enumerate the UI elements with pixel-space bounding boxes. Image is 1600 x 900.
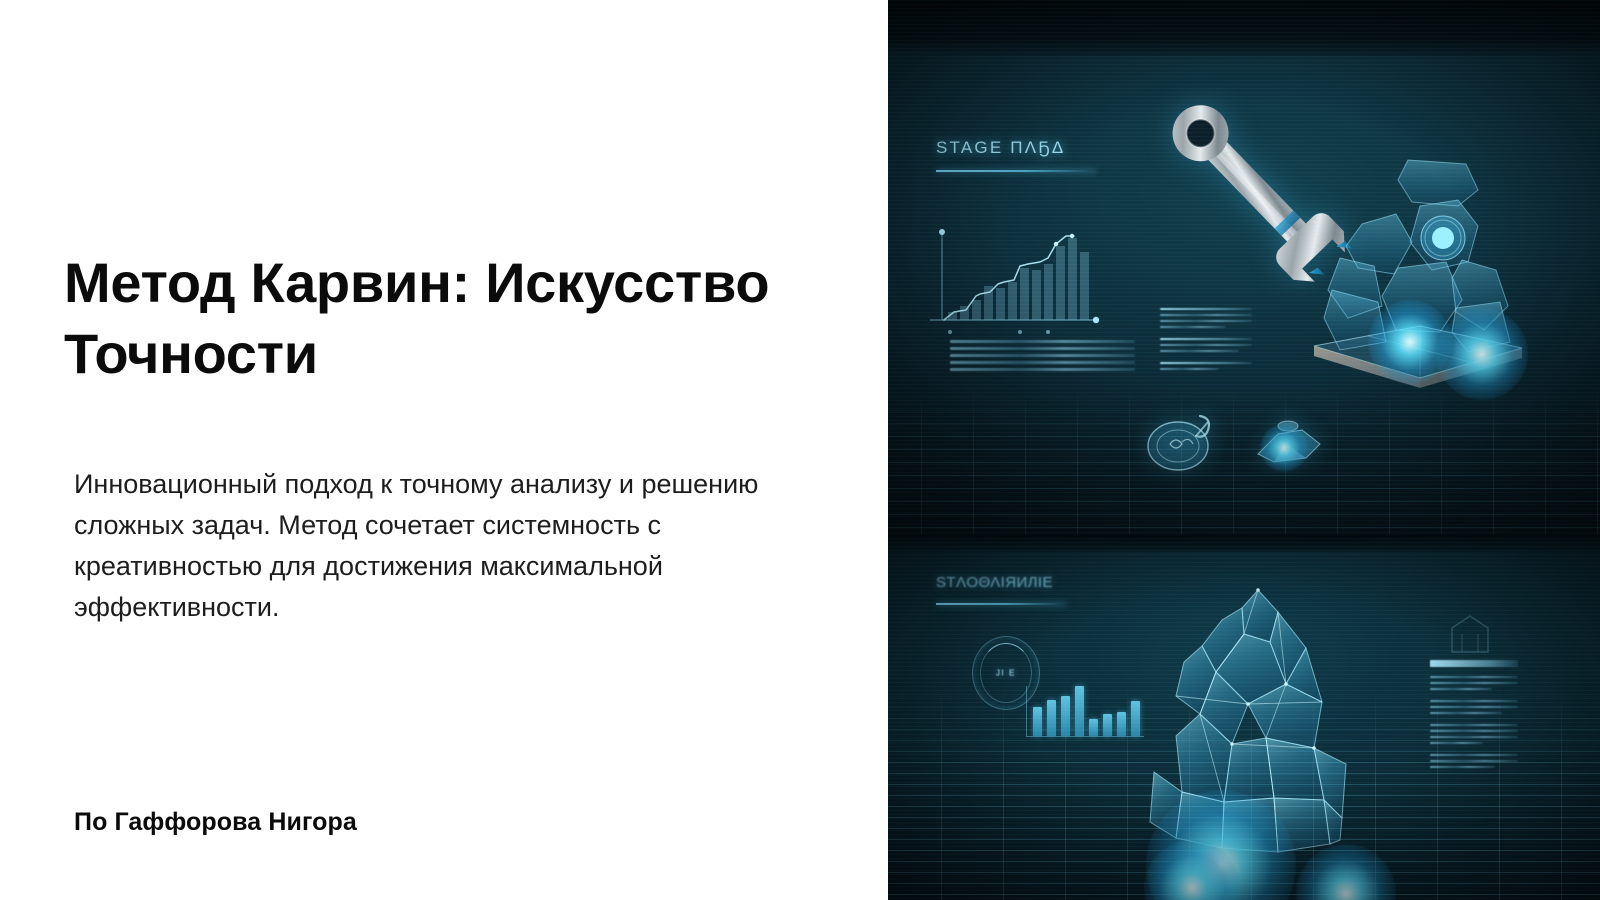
hud-header-label: STΛOΘΛΙЯИЛΙΕ <box>936 574 1066 591</box>
microtext-line <box>1160 314 1252 316</box>
combo-chart-top <box>924 222 1104 352</box>
microtext-line <box>1430 736 1518 738</box>
microtext-line <box>1430 754 1518 756</box>
bar <box>1103 714 1112 736</box>
panel-top-strip <box>888 0 1600 56</box>
small-hologram-object <box>1244 412 1334 472</box>
slide-subtitle: Инновационный подход к точному анализу и… <box>74 464 814 628</box>
bar-chart-bottom <box>1026 686 1144 737</box>
microtext-line <box>1430 766 1495 768</box>
microtext-block-center <box>1160 308 1252 370</box>
microtext-line <box>950 354 1135 357</box>
slide-text-column: Метод Карвин: Искусство Точности Инновац… <box>0 0 888 900</box>
microtext-line <box>950 340 1135 343</box>
microtext-line <box>1160 320 1252 322</box>
panel-top-strip <box>888 534 1600 552</box>
hud-header-rule <box>936 170 1096 172</box>
gear-disc-hologram <box>1136 400 1246 480</box>
bar <box>1033 707 1042 736</box>
artwork-panel-top: STAGE ΠΛҔΔ <box>888 0 1600 534</box>
microtext-line <box>950 368 1135 371</box>
microtext-line <box>1430 712 1502 714</box>
microtext-line <box>1430 700 1518 702</box>
microtext-line <box>1160 308 1252 310</box>
hud-header-top: STAGE ΠΛҔΔ <box>936 138 1096 172</box>
artwork-panel-bottom: STΛOΘΛΙЯИЛΙΕ JI E <box>888 534 1600 900</box>
microtext-line <box>1430 742 1483 744</box>
page-title: Метод Карвин: Искусство Точности <box>64 248 864 389</box>
bar <box>1117 712 1126 736</box>
bar <box>1131 701 1140 736</box>
microtext-line <box>1160 344 1252 346</box>
author-byline: По Гаффорова Нигора <box>74 808 357 837</box>
microtext-line <box>1430 760 1518 762</box>
hud-header-bottom: STΛOΘΛΙЯИЛΙΕ <box>936 574 1066 605</box>
low-poly-iceberg-hologram <box>1146 586 1376 876</box>
presentation-slide: Метод Карвин: Искусство Точности Инновац… <box>0 0 1600 900</box>
bar <box>1089 719 1098 736</box>
microtext-line <box>1160 350 1239 352</box>
hud-header-rule <box>936 603 1066 605</box>
microtext-line <box>950 361 1135 364</box>
microtext-line <box>1430 724 1518 726</box>
bar <box>1061 696 1070 736</box>
microtext-line <box>1430 706 1518 708</box>
microtext-line <box>1430 660 1518 667</box>
microtext-line <box>1160 368 1219 370</box>
microtext-line <box>1160 326 1226 328</box>
microtext-line <box>1160 338 1252 340</box>
hud-header-label: STAGE ΠΛҔΔ <box>936 138 1096 158</box>
microtext-line <box>950 347 1135 350</box>
microtext-line <box>1430 676 1518 678</box>
microtext-line <box>1430 682 1518 684</box>
microtext-block-left <box>950 340 1135 371</box>
microtext-line <box>1430 730 1518 732</box>
hologram-robot <box>1270 150 1530 400</box>
document-icon <box>1444 612 1496 660</box>
microtext-block-right <box>1430 660 1518 768</box>
microtext-line <box>1430 688 1492 690</box>
slide-artwork-column: STAGE ΠΛҔΔ <box>888 0 1600 900</box>
bar <box>1047 700 1056 736</box>
bar <box>1075 686 1084 736</box>
gauge-value: JI E <box>973 669 1039 678</box>
microtext-line <box>1160 362 1252 364</box>
